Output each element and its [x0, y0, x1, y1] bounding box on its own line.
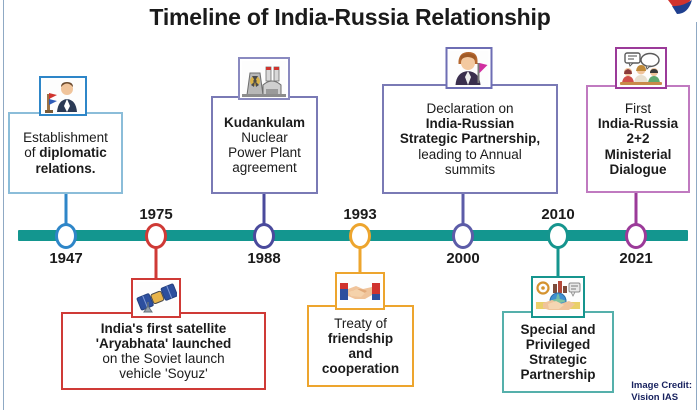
event-line: friendship	[314, 331, 407, 346]
page-title: Timeline of India-Russia Relationship	[0, 4, 700, 31]
event-line: 'Aryabhata' launched	[68, 336, 259, 351]
satellite-icon	[135, 282, 177, 315]
year-label-2021: 2021	[619, 250, 652, 267]
global-partnership-icon	[535, 280, 581, 315]
event-line: India-Russia	[593, 116, 683, 131]
year-label-1975: 1975	[139, 206, 172, 223]
page-border-left	[3, 0, 4, 410]
event-line: First	[593, 101, 683, 116]
image-credit-source: Vision IAS	[631, 392, 692, 404]
event-line: vehicle 'Soyuz'	[68, 366, 259, 381]
event-card-1947: Establishment of diplomatic relations.	[8, 112, 123, 194]
event-line: Establishment	[15, 130, 116, 145]
event-card-2021: First India-Russia 2+2 Ministerial Dialo…	[586, 85, 690, 193]
event-card-1988: Kudankulam Nuclear Power Plant agreement	[211, 96, 318, 194]
chip-satellite-icon	[131, 278, 181, 318]
event-line: Ministerial	[593, 147, 683, 162]
nuclear-power-plant-icon	[242, 61, 286, 97]
event-line: Declaration on	[389, 101, 551, 116]
page-border-right	[696, 22, 697, 410]
event-card-2000: Declaration on India-Russian Strategic P…	[382, 84, 558, 194]
year-label-2010: 2010	[541, 206, 574, 223]
event-line: Strategic Partnership,	[389, 131, 551, 146]
event-line: Privileged	[509, 337, 607, 352]
year-label-1947: 1947	[49, 250, 82, 267]
event-line: agreement	[218, 160, 311, 175]
event-line: cooperation	[314, 361, 407, 376]
chip-diplomat-icon	[39, 76, 87, 116]
event-line: Special and	[509, 322, 607, 337]
event-line: of diplomatic	[15, 145, 116, 160]
event-card-2010: Special and Privileged Strategic Partner…	[502, 311, 614, 393]
event-line: Treaty of	[314, 316, 407, 331]
dialogue-meeting-icon	[619, 51, 663, 86]
timeline-node-1993[interactable]	[349, 223, 371, 249]
timeline-node-2021[interactable]	[625, 223, 647, 249]
diplomat-icon	[43, 80, 83, 113]
vision-ias-logo	[664, 0, 694, 18]
timeline-node-2010[interactable]	[547, 223, 569, 249]
chip-nuclear-power-plant-icon	[238, 57, 290, 100]
timeline-node-1988[interactable]	[253, 223, 275, 249]
infographic-canvas: Timeline of India-Russia Relationship 19…	[0, 0, 700, 410]
chip-global-partnership-icon	[531, 276, 585, 318]
event-line: relations.	[15, 161, 116, 176]
event-line: summits	[389, 162, 551, 177]
image-credit: Image Credit: Vision IAS	[631, 380, 692, 404]
timeline-node-2000[interactable]	[452, 223, 474, 249]
diplomat-with-flag-icon	[450, 51, 489, 86]
chip-dialogue-meeting-icon	[615, 47, 667, 89]
event-line: Kudankulam	[218, 115, 311, 130]
year-label-2000: 2000	[446, 250, 479, 267]
event-line: India-Russian	[389, 116, 551, 131]
event-line-emphasis: diplomatic	[39, 145, 107, 160]
event-line: leading to Annual	[389, 147, 551, 162]
event-card-1975: India's first satellite 'Aryabhata' laun…	[61, 312, 266, 390]
event-line: 2+2	[593, 131, 683, 146]
chip-handshake-icon	[335, 272, 385, 310]
image-credit-label: Image Credit:	[631, 380, 692, 392]
event-line: and	[314, 346, 407, 361]
handshake-icon	[339, 276, 381, 307]
timeline-node-1975[interactable]	[145, 223, 167, 249]
event-line: Dialogue	[593, 162, 683, 177]
event-line: on the Soviet launch	[68, 351, 259, 366]
year-label-1993: 1993	[343, 206, 376, 223]
event-card-1993: Treaty of friendship and cooperation	[307, 305, 414, 387]
year-label-1988: 1988	[247, 250, 280, 267]
event-line: India's first satellite	[68, 321, 259, 336]
event-line: Partnership	[509, 367, 607, 382]
event-line: Power Plant	[218, 145, 311, 160]
timeline-node-1947[interactable]	[55, 223, 77, 249]
event-line: Strategic	[509, 352, 607, 367]
chip-diplomat-with-flag-icon	[446, 47, 493, 89]
event-line: Nuclear	[218, 130, 311, 145]
